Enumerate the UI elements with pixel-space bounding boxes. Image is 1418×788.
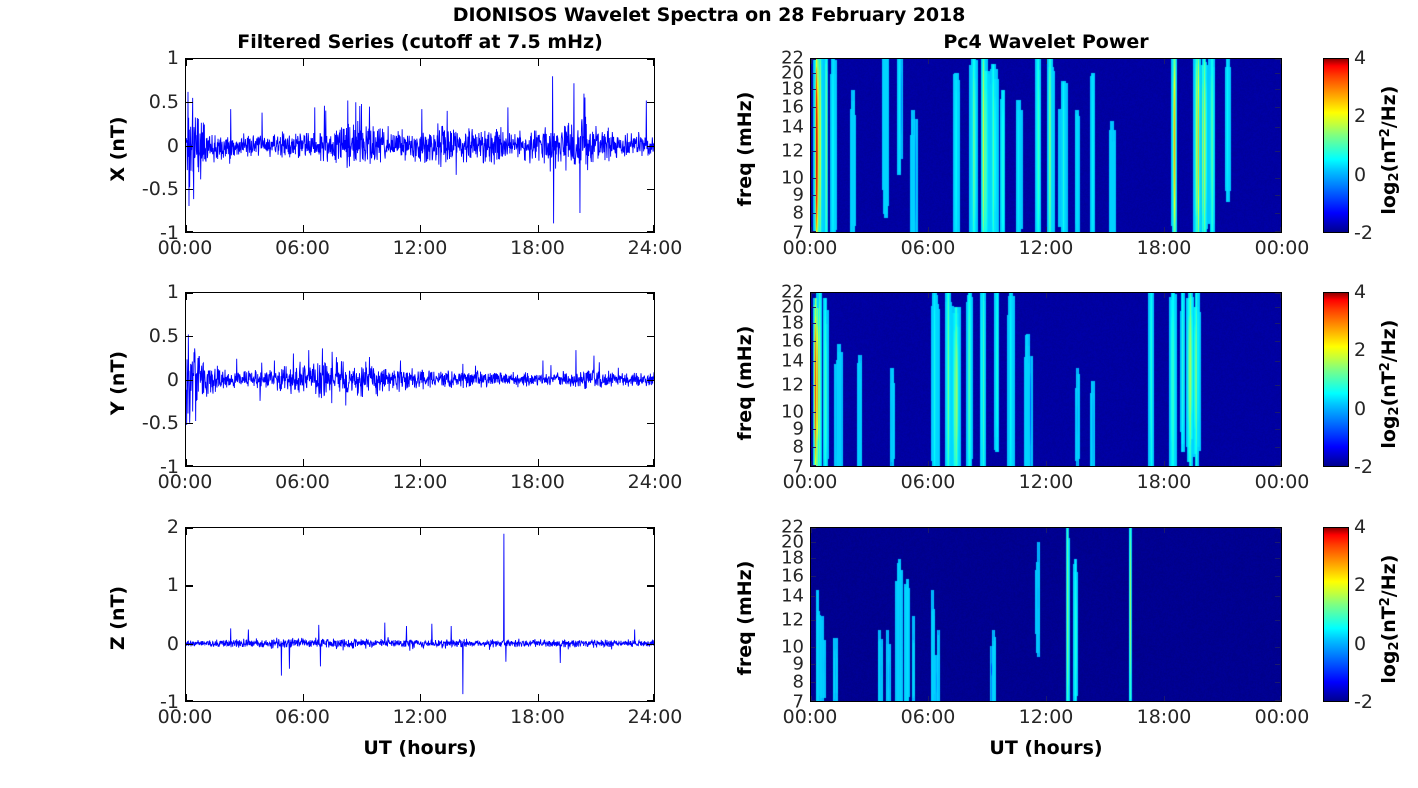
cbarticklabel-x-1: 2 [1354, 105, 1366, 127]
yticklabel-y-0: -1 [123, 456, 179, 478]
yticklabel-x-4: 1 [123, 47, 179, 69]
timeseries-axes-x[interactable] [185, 58, 655, 233]
xtick-top-y-2 [420, 293, 421, 300]
ftick-right-z-9 [1275, 700, 1280, 701]
xtick-sp-x-2 [1046, 227, 1047, 232]
xtick-sp-top-y-1 [928, 293, 929, 298]
ftick-right-y-7 [1275, 429, 1280, 430]
ytick-z-0 [186, 700, 193, 701]
xtick-top-z-2 [420, 528, 421, 535]
ftick-y-1 [811, 307, 816, 308]
xtick-sp-x-1 [928, 227, 929, 232]
xtick-sp-y-2 [1046, 461, 1047, 466]
ftick-right-x-0 [1275, 59, 1280, 60]
ftick-x-3 [811, 107, 816, 108]
ftick-x-2 [811, 89, 816, 90]
yticklabel-y-1: -0.5 [123, 412, 179, 434]
spectrogram-axes-y[interactable] [810, 292, 1282, 467]
ftick-z-3 [811, 576, 816, 577]
xtick-top-x-3 [538, 59, 539, 66]
cbarticklabel-y-0: 4 [1354, 281, 1366, 303]
ftick-right-z-8 [1275, 682, 1280, 683]
xtick-y-3 [538, 459, 539, 466]
ftick-y-8 [811, 447, 816, 448]
ftick-z-5 [811, 620, 816, 621]
xtick-sp-y-3 [1164, 461, 1165, 466]
ftick-right-x-5 [1275, 151, 1280, 152]
cbarticklabel-x-0: 4 [1354, 47, 1366, 69]
xtick-top-x-2 [420, 59, 421, 66]
yticklabel-x-2: 0 [123, 135, 179, 157]
xtick-x-1 [303, 225, 304, 232]
xticklabel-x-3: 18:00 [510, 237, 565, 259]
ftick-x-0 [811, 59, 816, 60]
cbarticklabel-y-1: 2 [1354, 339, 1366, 361]
ftick-right-y-2 [1275, 323, 1280, 324]
ftick-right-z-5 [1275, 620, 1280, 621]
ftick-right-y-8 [1275, 447, 1280, 448]
ftick-right-y-1 [1275, 307, 1280, 308]
xticklabel-sp-y-4: 00:00 [1255, 471, 1310, 493]
fticklabel-x-9: 7 [752, 223, 804, 244]
yticklabel-y-2: 0 [123, 369, 179, 391]
cbarticklabel-z-0: 4 [1354, 516, 1366, 538]
ytick-right-z-2 [647, 585, 654, 586]
ytick-right-x-2 [647, 146, 654, 147]
ftick-x-8 [811, 213, 816, 214]
xticklabel-sp-z-1: 06:00 [901, 706, 956, 728]
ftick-right-x-4 [1275, 127, 1280, 128]
xtick-top-z-3 [538, 528, 539, 535]
xticklabel-sp-x-4: 00:00 [1255, 237, 1310, 259]
xtick-y-2 [420, 459, 421, 466]
xticklabel-z-2: 12:00 [393, 706, 448, 728]
colorbar-title-x: log2(nT2/Hz) [1378, 60, 1402, 240]
ftick-right-z-4 [1275, 596, 1280, 597]
ytick-right-x-0 [647, 231, 654, 232]
ftick-y-6 [811, 412, 816, 413]
ftick-x-7 [811, 195, 816, 196]
xticklabel-sp-y-3: 18:00 [1137, 471, 1192, 493]
ftick-y-5 [811, 385, 816, 386]
xtick-sp-z-3 [1164, 696, 1165, 701]
spectrogram-axes-x[interactable] [810, 58, 1282, 233]
ftick-x-5 [811, 151, 816, 152]
spectrogram-axes-z[interactable] [810, 527, 1282, 702]
colorbar-y[interactable] [1323, 292, 1349, 467]
xtick-sp-top-z-3 [1164, 528, 1165, 533]
ftick-z-8 [811, 682, 816, 683]
ytick-right-y-0 [647, 465, 654, 466]
fticklabel-y-5: 12 [752, 374, 804, 395]
ftick-x-4 [811, 127, 816, 128]
ytick-right-z-0 [647, 700, 654, 701]
xticklabel-sp-x-2: 12:00 [1019, 237, 1074, 259]
ftick-y-4 [811, 361, 816, 362]
xtick-x-2 [420, 225, 421, 232]
cbarticklabel-z-2: 0 [1354, 633, 1366, 655]
ftick-right-x-2 [1275, 89, 1280, 90]
ytick-right-x-3 [647, 102, 654, 103]
xtick-sp-z-1 [928, 696, 929, 701]
fticklabel-x-3: 16 [752, 96, 804, 117]
ftick-x-9 [811, 231, 816, 232]
fticklabel-z-8: 8 [752, 671, 804, 692]
timeseries-axes-z[interactable] [185, 527, 655, 702]
xticklabel-sp-z-2: 12:00 [1019, 706, 1074, 728]
xticklabel-x-1: 06:00 [275, 237, 330, 259]
xtick-sp-top-y-4 [1280, 293, 1281, 298]
wavelet-power-image [811, 59, 1281, 232]
xtick-top-x-1 [303, 59, 304, 66]
cbarticklabel-x-3: -2 [1354, 222, 1373, 244]
yticklabel-z-2: 1 [123, 574, 179, 596]
xlabel-left: UT (hours) [185, 737, 655, 759]
ftick-right-z-3 [1275, 576, 1280, 577]
xtick-sp-y-1 [928, 461, 929, 466]
yticklabel-y-3: 0.5 [123, 325, 179, 347]
ftick-right-x-6 [1275, 178, 1280, 179]
fticklabel-x-8: 8 [752, 202, 804, 223]
timeseries-trace [186, 293, 654, 466]
xtick-sp-y-4 [1280, 461, 1281, 466]
ytick-right-y-3 [647, 336, 654, 337]
ftick-right-z-0 [1275, 528, 1280, 529]
ftick-z-0 [811, 528, 816, 529]
timeseries-trace [186, 59, 654, 232]
xticklabel-x-2: 12:00 [393, 237, 448, 259]
ftick-right-z-1 [1275, 542, 1280, 543]
xtick-sp-x-4 [1280, 227, 1281, 232]
figure-canvas: DIONISOS Wavelet Spectra on 28 February … [0, 0, 1418, 788]
ftick-y-0 [811, 293, 816, 294]
xtick-sp-top-z-1 [928, 528, 929, 533]
xtick-top-y-1 [303, 293, 304, 300]
ytick-y-3 [186, 336, 193, 337]
ftick-right-y-6 [1275, 412, 1280, 413]
ftick-z-1 [811, 542, 816, 543]
ftick-right-x-8 [1275, 213, 1280, 214]
ftick-x-1 [811, 73, 816, 74]
ytick-right-x-1 [647, 189, 654, 190]
ftick-right-z-7 [1275, 664, 1280, 665]
xticklabel-x-4: 24:00 [628, 237, 683, 259]
xtick-z-2 [420, 694, 421, 701]
xlabel-right: UT (hours) [810, 737, 1282, 759]
ytick-right-y-1 [647, 423, 654, 424]
xticklabel-sp-y-1: 06:00 [901, 471, 956, 493]
xtick-top-y-3 [538, 293, 539, 300]
ftick-z-6 [811, 647, 816, 648]
cbarticklabel-x-2: 0 [1354, 164, 1366, 186]
xtick-top-z-1 [303, 528, 304, 535]
xtick-sp-z-2 [1046, 696, 1047, 701]
xticklabel-sp-x-1: 06:00 [901, 237, 956, 259]
ftick-z-2 [811, 558, 816, 559]
ftick-right-z-6 [1275, 647, 1280, 648]
ytick-right-x-4 [647, 59, 654, 60]
ftick-right-x-1 [1275, 73, 1280, 74]
ftick-z-9 [811, 700, 816, 701]
xticklabel-z-3: 18:00 [510, 706, 565, 728]
ftick-right-y-4 [1275, 361, 1280, 362]
xticklabel-y-3: 18:00 [510, 471, 565, 493]
xticklabel-z-1: 06:00 [275, 706, 330, 728]
yticklabel-z-0: -1 [123, 691, 179, 713]
xtick-sp-z-4 [1280, 696, 1281, 701]
fticklabel-z-9: 7 [752, 692, 804, 713]
ytick-y-0 [186, 465, 193, 466]
ytick-x-1 [186, 189, 193, 190]
ftick-y-3 [811, 341, 816, 342]
ftick-right-x-9 [1275, 231, 1280, 232]
xtick-x-3 [538, 225, 539, 232]
fticklabel-y-8: 8 [752, 436, 804, 457]
yticklabel-x-3: 0.5 [123, 91, 179, 113]
fticklabel-z-4: 14 [752, 586, 804, 607]
ytick-x-2 [186, 146, 193, 147]
xtick-sp-top-x-2 [1046, 59, 1047, 64]
ftick-y-7 [811, 429, 816, 430]
left-column-title: Filtered Series (cutoff at 7.5 mHz) [185, 31, 655, 53]
ytick-right-y-2 [647, 380, 654, 381]
xtick-sp-top-z-4 [1280, 528, 1281, 533]
wavelet-power-image [811, 293, 1281, 466]
fticklabel-y-3: 16 [752, 330, 804, 351]
xticklabel-sp-z-3: 18:00 [1137, 706, 1192, 728]
ytick-right-z-1 [647, 644, 654, 645]
xtick-sp-top-y-3 [1164, 293, 1165, 298]
xtick-z-3 [538, 694, 539, 701]
xticklabel-sp-z-4: 00:00 [1255, 706, 1310, 728]
cbarticklabel-z-3: -2 [1354, 691, 1373, 713]
fticklabel-x-4: 14 [752, 117, 804, 138]
yticklabel-x-1: -0.5 [123, 178, 179, 200]
cbarticklabel-z-1: 2 [1354, 574, 1366, 596]
fticklabel-x-5: 12 [752, 140, 804, 161]
fticklabel-y-9: 7 [752, 457, 804, 478]
ytick-x-3 [186, 102, 193, 103]
xtick-z-1 [303, 694, 304, 701]
ftick-right-y-0 [1275, 293, 1280, 294]
right-column-title: Pc4 Wavelet Power [810, 31, 1282, 53]
colorbar-z[interactable] [1323, 527, 1349, 702]
ytick-y-4 [186, 293, 193, 294]
xtick-sp-top-x-1 [928, 59, 929, 64]
ftick-right-x-7 [1275, 195, 1280, 196]
xtick-sp-x-3 [1164, 227, 1165, 232]
timeseries-axes-y[interactable] [185, 292, 655, 467]
fticklabel-y-4: 14 [752, 351, 804, 372]
xtick-sp-top-x-4 [1280, 59, 1281, 64]
xtick-sp-top-z-2 [1046, 528, 1047, 533]
xticklabel-z-4: 24:00 [628, 706, 683, 728]
colorbar-x[interactable] [1323, 58, 1349, 233]
ytick-x-4 [186, 59, 193, 60]
xticklabel-y-2: 12:00 [393, 471, 448, 493]
wavelet-power-image [811, 528, 1281, 701]
cbarticklabel-y-3: -2 [1354, 456, 1373, 478]
cbarticklabel-y-2: 0 [1354, 398, 1366, 420]
ytick-y-2 [186, 380, 193, 381]
xticklabel-y-1: 06:00 [275, 471, 330, 493]
yticklabel-z-3: 2 [123, 516, 179, 538]
xticklabel-sp-x-3: 18:00 [1137, 237, 1192, 259]
xtick-sp-top-y-2 [1046, 293, 1047, 298]
yticklabel-z-1: 0 [123, 633, 179, 655]
fticklabel-z-3: 16 [752, 565, 804, 586]
xtick-sp-top-x-3 [1164, 59, 1165, 64]
ytick-y-1 [186, 423, 193, 424]
yticklabel-x-0: -1 [123, 222, 179, 244]
ytick-z-3 [186, 528, 193, 529]
fticklabel-z-5: 12 [752, 609, 804, 630]
ftick-right-x-3 [1275, 107, 1280, 108]
xtick-y-1 [303, 459, 304, 466]
colorbar-title-y: log2(nT2/Hz) [1378, 294, 1402, 474]
xticklabel-sp-y-2: 12:00 [1019, 471, 1074, 493]
xticklabel-y-4: 24:00 [628, 471, 683, 493]
timeseries-trace [186, 528, 654, 701]
ftick-y-2 [811, 323, 816, 324]
ytick-z-2 [186, 585, 193, 586]
ftick-right-y-9 [1275, 465, 1280, 466]
ftick-right-y-3 [1275, 341, 1280, 342]
ftick-right-z-2 [1275, 558, 1280, 559]
ytick-x-0 [186, 231, 193, 232]
yticklabel-y-4: 1 [123, 281, 179, 303]
figure-title: DIONISOS Wavelet Spectra on 28 February … [0, 4, 1418, 26]
ytick-right-z-3 [647, 528, 654, 529]
ftick-z-4 [811, 596, 816, 597]
ytick-right-y-4 [647, 293, 654, 294]
ytick-z-1 [186, 644, 193, 645]
ftick-y-9 [811, 465, 816, 466]
ftick-z-7 [811, 664, 816, 665]
ftick-right-y-5 [1275, 385, 1280, 386]
colorbar-title-z: log2(nT2/Hz) [1378, 529, 1402, 709]
ftick-x-6 [811, 178, 816, 179]
